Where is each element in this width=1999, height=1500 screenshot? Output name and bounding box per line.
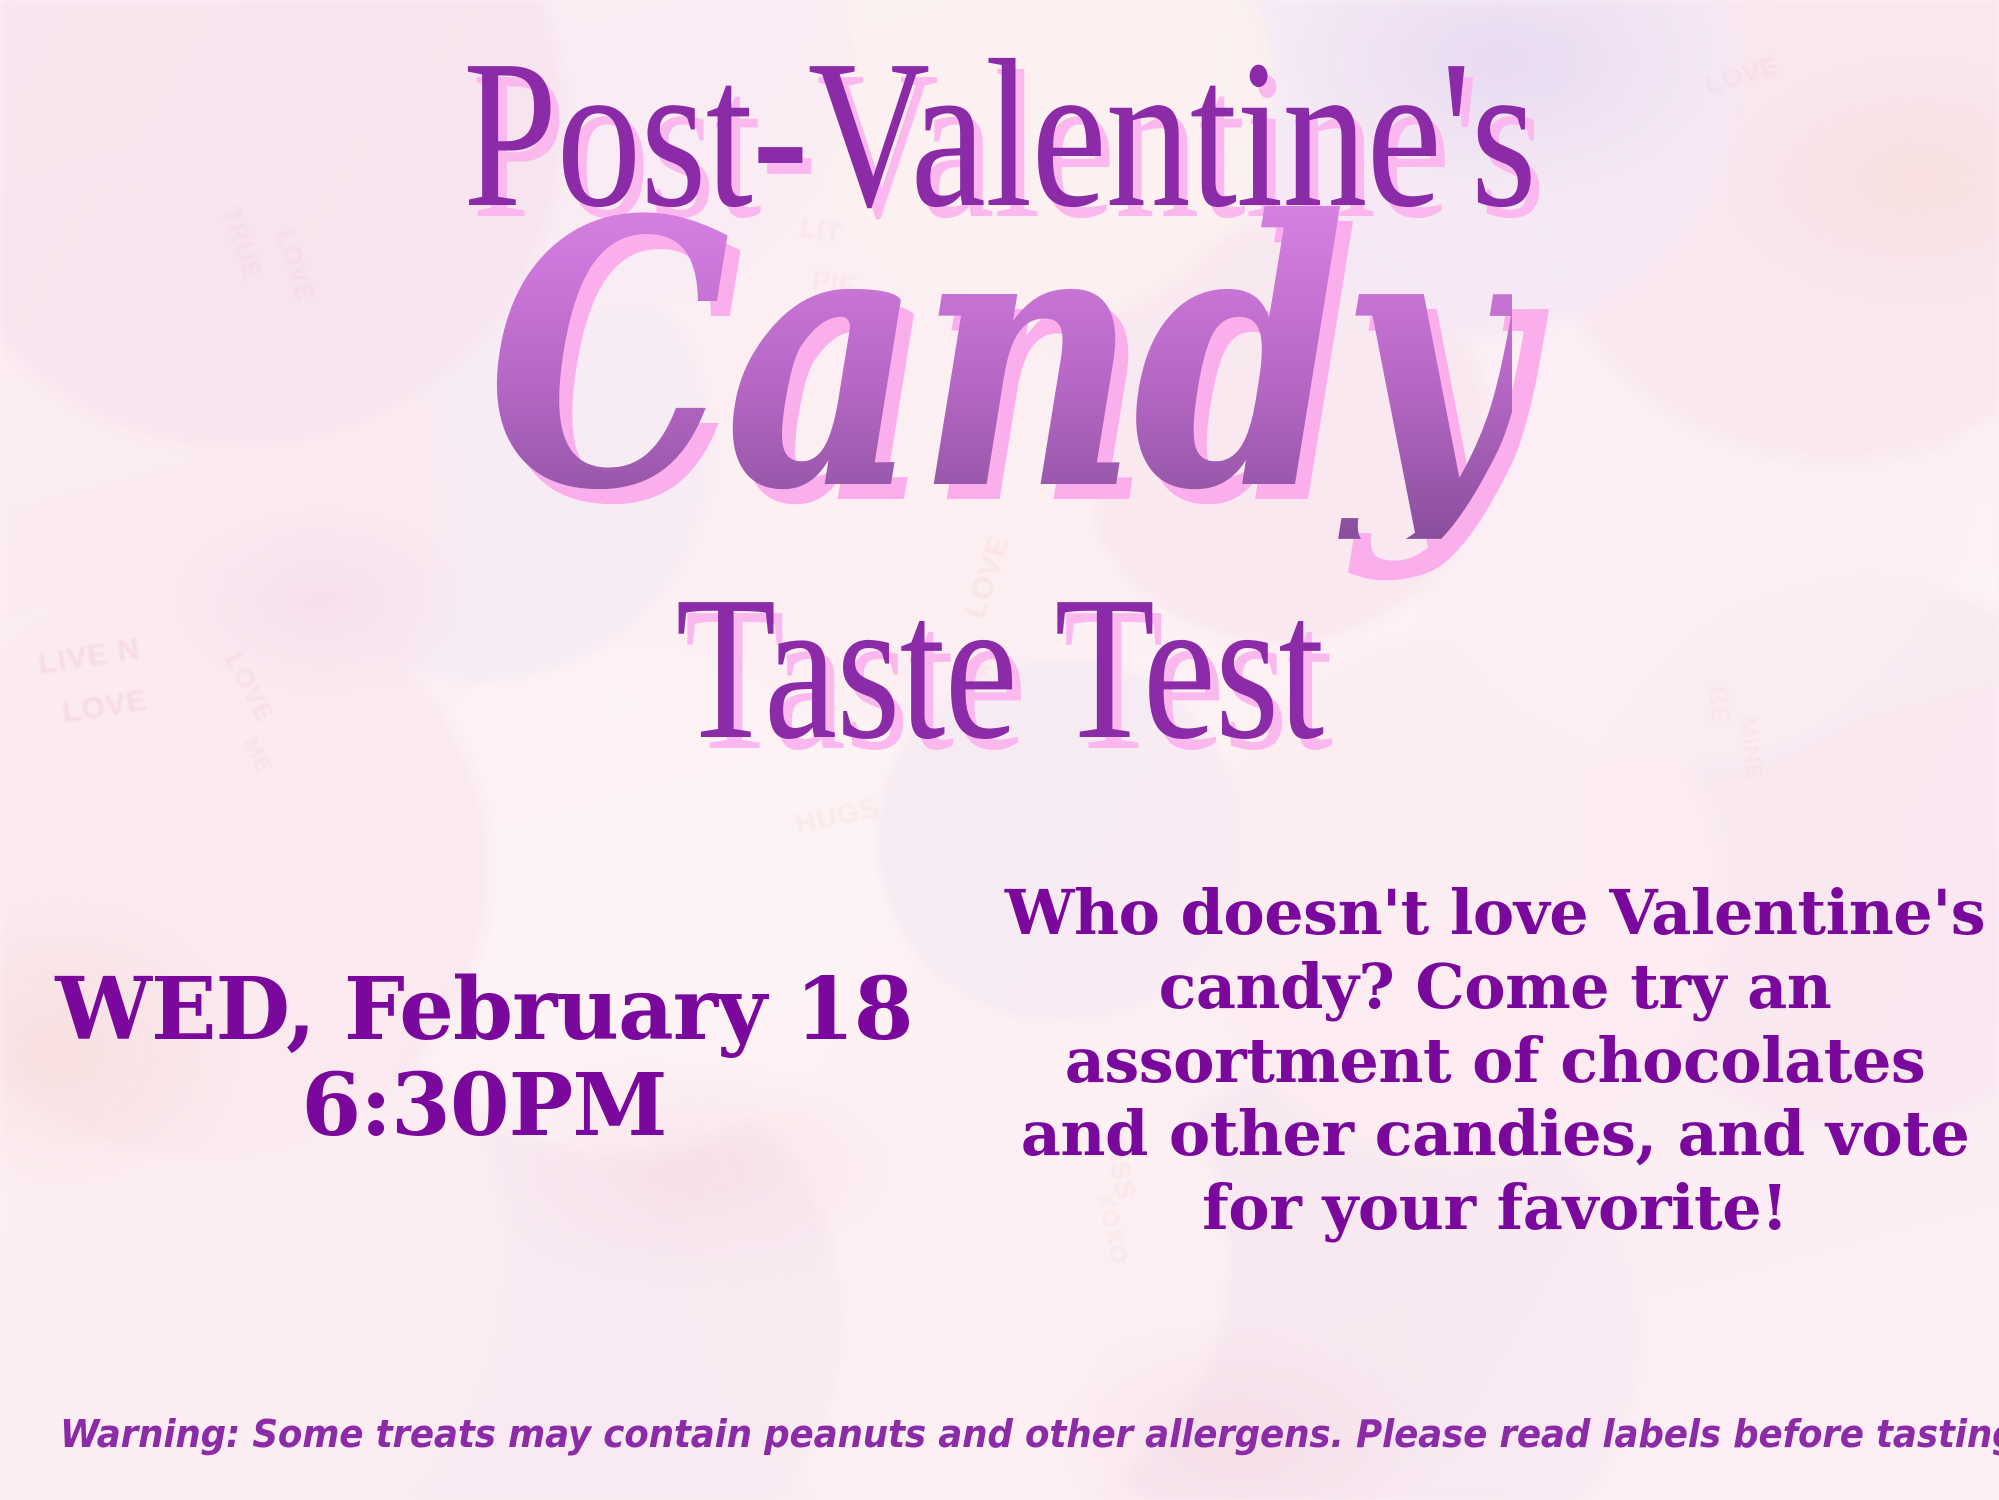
- candy-word-shadow: Candy: [13, 211, 1999, 511]
- event-date: WED, February 18: [44, 962, 924, 1058]
- title-line-one: Post-Valentine's: [200, 28, 1799, 240]
- event-date-block: WED, February 18 6:30PM: [44, 962, 924, 1155]
- allergen-warning: Warning: Some treats may contain peanuts…: [60, 1412, 1939, 1456]
- title-line-two: Taste Test: [200, 565, 1799, 771]
- event-description: Who doesn't love Valentine's candy? Come…: [1000, 876, 1990, 1245]
- poster-content: Post-Valentine's Candy Candy Taste Test …: [0, 0, 1999, 1500]
- poster-canvas: LIVE NLOVELOVEMELOVEMELITPIEHUGSKISSXOXO…: [0, 0, 1999, 1500]
- event-time: 6:30PM: [44, 1058, 924, 1154]
